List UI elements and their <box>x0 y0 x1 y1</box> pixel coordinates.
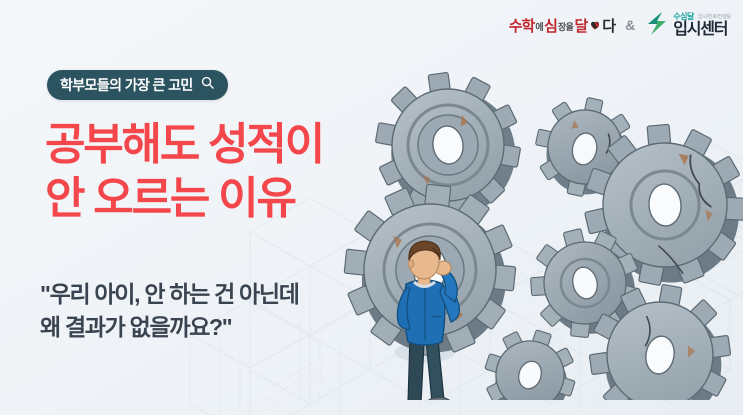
ipsi-tag-label: 수심달 <box>673 13 694 21</box>
logo-text-sim: 심 <box>544 19 557 34</box>
search-icon <box>200 75 215 95</box>
headline: 공부해도 성적이 안 오르는 이유 <box>45 118 323 225</box>
subtitle-line-2: 왜 결과가 없을까요?" <box>40 311 299 344</box>
ipsi-sub-label: 입시/진로/컨설팅 <box>698 15 731 20</box>
heart-icon <box>589 18 601 30</box>
logo-separator: & <box>623 17 637 35</box>
headline-line-1: 공부해도 성적이 <box>45 120 323 169</box>
ipsi-center-logo: 수심달 입시/진로/컨설팅 입시센터 <box>645 10 731 41</box>
brand-logo-bar: 수학 에 심 장을 달 다 & <box>509 10 731 41</box>
broken-gears-illustration <box>330 55 743 400</box>
ipsi-mark-icon <box>645 10 669 41</box>
promo-banner: 수학 에 심 장을 달 다 & <box>0 0 743 415</box>
topic-badge-label: 학부모들의 가장 큰 고민 <box>60 75 193 95</box>
logo-text-dal: 달 <box>574 19 587 34</box>
gear-bottom-center <box>473 318 586 400</box>
subtitle-line-1: "우리 아이, 안 하는 건 아닌데 <box>40 281 299 307</box>
logo-text-su: 수학 <box>509 19 535 34</box>
logo-text-jangeul: 장을 <box>558 23 574 34</box>
logo-text-hage: 에 <box>535 23 543 34</box>
topic-badge[interactable]: 학부모들의 가장 큰 고민 <box>47 70 228 100</box>
subtitle: "우리 아이, 안 하는 건 아닌데 왜 결과가 없을까요?" <box>40 278 299 343</box>
sumsimdal-logo: 수학 에 심 장을 달 다 <box>509 18 615 34</box>
headline-line-2: 안 오르는 이유 <box>45 172 323 226</box>
logo-text-da: 다 <box>602 19 615 34</box>
ipsi-main-label: 입시센터 <box>673 22 731 38</box>
